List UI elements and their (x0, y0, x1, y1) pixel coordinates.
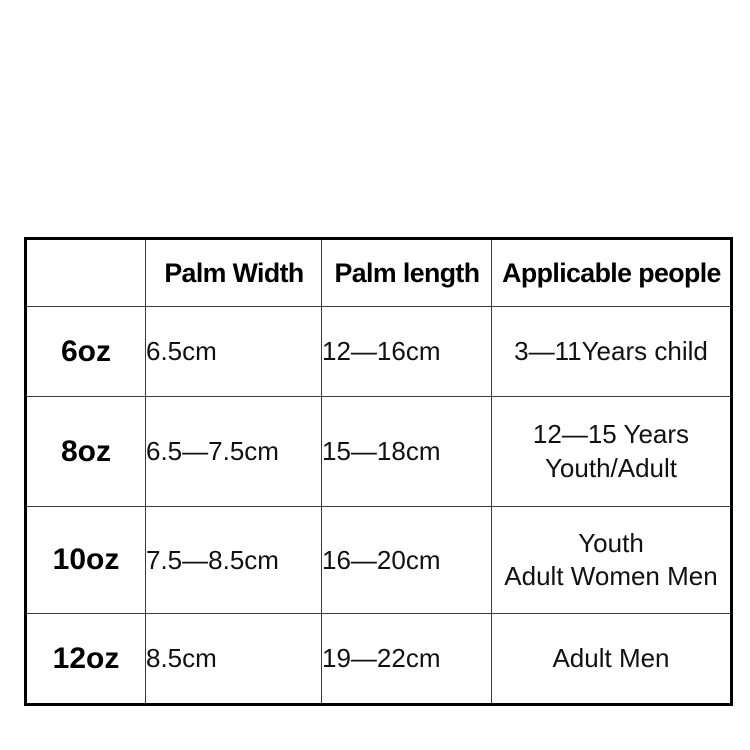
column-header-palm-width: Palm Width (146, 239, 320, 307)
people-line-1: Adult Men (492, 642, 730, 675)
table-row: 6oz 6.5cm 12—16cm 3—11Years child (26, 307, 732, 397)
cell-size-6oz: 6oz (26, 307, 146, 397)
table-header-row: Palm Width Palm length Applicable people (26, 239, 732, 307)
cell-size-10oz: 10oz (26, 507, 146, 614)
cell-applicable-people-12oz: Adult Men (492, 614, 732, 705)
people-line-1: 3—11Years child (492, 335, 730, 368)
people-line-2: Adult Women Men (492, 560, 730, 593)
cell-palm-length-10oz: 16—20cm (322, 507, 492, 614)
people-line-2: Youth/Adult (492, 452, 730, 485)
cell-palm-length-8oz: 15—18cm (322, 397, 492, 507)
cell-palm-width-10oz: 7.5—8.5cm (146, 507, 322, 614)
cell-palm-width-8oz: 6.5—7.5cm (146, 397, 322, 507)
cell-applicable-people-10oz: Youth Adult Women Men (492, 507, 732, 614)
people-line-1: Youth (492, 527, 730, 560)
column-header-size (26, 239, 146, 307)
size-chart-table: Palm Width Palm length Applicable people… (24, 237, 733, 706)
cell-palm-width-6oz: 6.5cm (146, 307, 322, 397)
cell-size-12oz: 12oz (26, 614, 146, 705)
cell-applicable-people-8oz: 12—15 Years Youth/Adult (492, 397, 732, 507)
people-line-1: 12—15 Years (492, 418, 730, 451)
cell-size-8oz: 8oz (26, 397, 146, 507)
column-header-palm-length: Palm length (322, 239, 490, 307)
cell-palm-length-6oz: 12—16cm (322, 307, 492, 397)
column-header-applicable-people: Applicable people (493, 239, 731, 307)
table-row: 10oz 7.5—8.5cm 16—20cm Youth Adult Women… (26, 507, 732, 614)
table-row: 8oz 6.5—7.5cm 15—18cm 12—15 Years Youth/… (26, 397, 732, 507)
cell-applicable-people-6oz: 3—11Years child (492, 307, 732, 397)
cell-palm-width-12oz: 8.5cm (146, 614, 322, 705)
cell-palm-length-12oz: 19—22cm (322, 614, 492, 705)
page-canvas: Palm Width Palm length Applicable people… (0, 0, 750, 750)
table-row: 12oz 8.5cm 19—22cm Adult Men (26, 614, 732, 705)
